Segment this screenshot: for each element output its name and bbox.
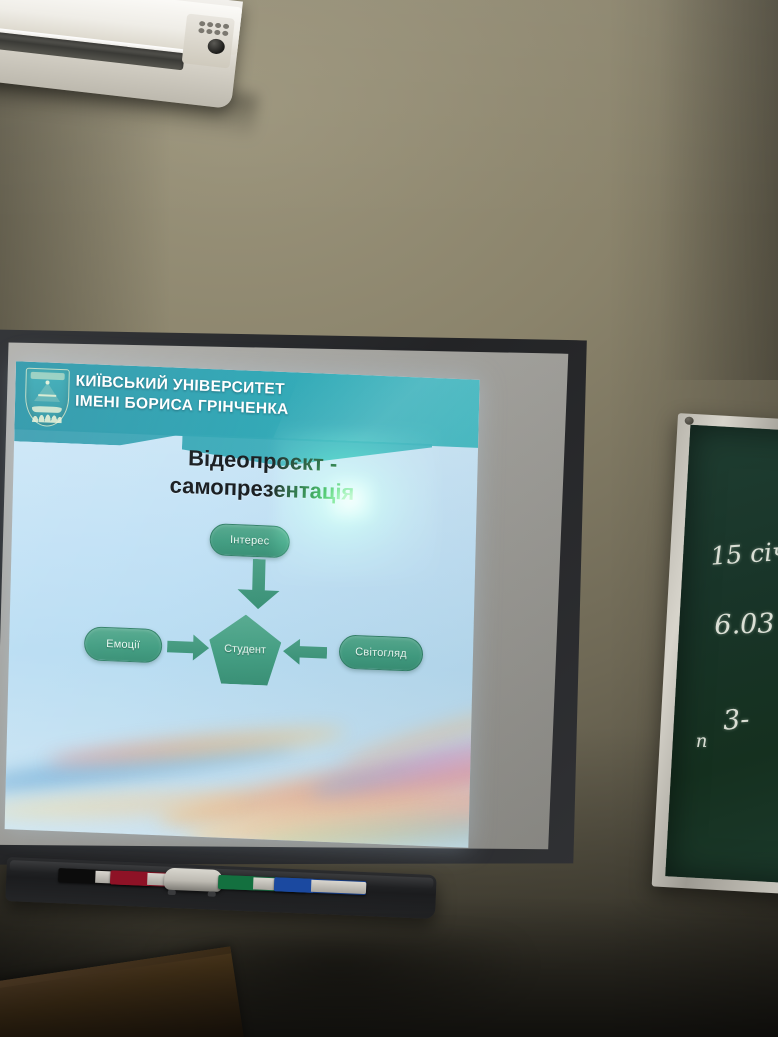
classroom-scene: КИЇВСЬКИЙ УНІВЕРСИТЕТ ІМЕНІ БОРИСА ГРІНЧ… [0,0,778,1037]
chalkboard-mount-bolt [684,416,693,424]
interactive-whiteboard[interactable]: КИЇВСЬКИЙ УНІВЕРСИТЕТ ІМЕНІ БОРИСА ГРІНЧ… [0,320,596,901]
wall-corner-shading [658,0,778,380]
desk-edge [0,946,231,997]
chalkboard-line-1: 15 січ [709,537,778,571]
projected-slide: КИЇВСЬКИЙ УНІВЕРСИТЕТ ІМЕНІ БОРИСА ГРІНЧ… [5,361,480,847]
slide-decorative-waves [5,639,473,848]
diagram-arrow-down-icon [237,558,280,610]
chalkboard-line-3: 3- [722,704,750,737]
chalkboard-line-2: 6.03 [714,608,775,641]
board-eraser[interactable] [164,868,223,892]
diagram-node-interes: Інтерес [209,523,290,558]
chalkboard-line-4: п [696,731,708,752]
marker-blue[interactable] [274,877,367,895]
wooden-desk [0,946,246,1037]
chalkboard[interactable]: 15 січ 6.03 3- п [650,413,778,923]
